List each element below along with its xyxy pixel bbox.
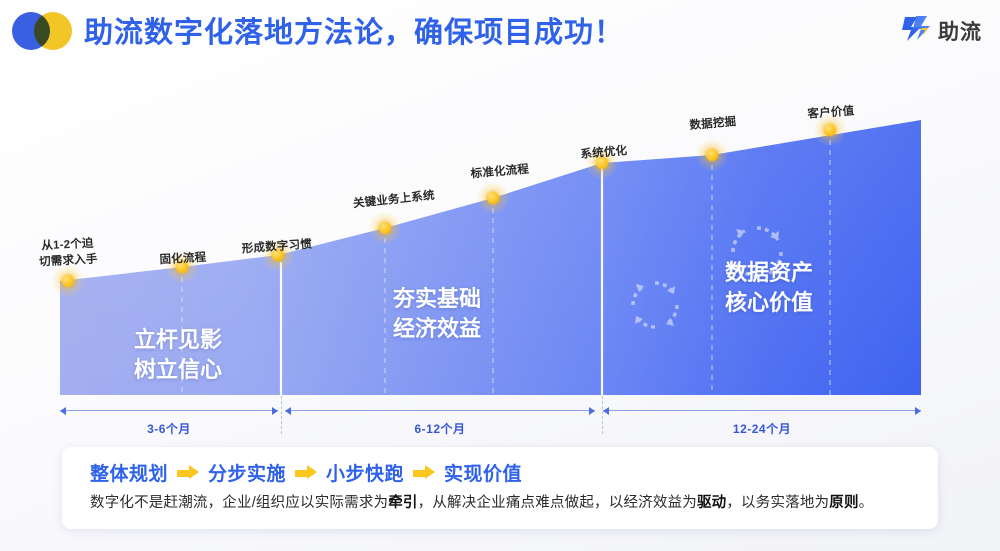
milestone-label-1: 从1-2个迫 切需求入手 [17, 235, 118, 271]
arrow-right-icon [272, 407, 278, 415]
desc-part-3: ，从解决企业痛点难点做起，以经济效益为 [418, 495, 697, 511]
company-logo: 助流 [900, 14, 982, 48]
marker-dot [487, 192, 499, 204]
milestone-marker-7[interactable] [695, 138, 729, 172]
arrow-right-icon [915, 407, 921, 415]
timeline-segment-1: 3-6个月 [60, 410, 278, 440]
timeline-segment-3: 12-24个月 [603, 410, 921, 440]
brand-circle-gold [34, 12, 72, 50]
logo-text: 助流 [938, 16, 982, 46]
page-header: 助流数字化落地方法论，确保项目成功！ 助流 [0, 0, 1000, 62]
milestone-marker-4[interactable] [368, 211, 402, 245]
timeline-label-1: 3-6个月 [60, 420, 278, 437]
brand-circles-logo [12, 12, 74, 50]
timeline-line [285, 410, 595, 411]
arrow-right-icon-2 [295, 465, 317, 480]
marker-dot [706, 149, 718, 161]
arrow-right-icon-3 [413, 465, 435, 480]
marker-dot [824, 124, 836, 136]
lightning-bolt-icon [900, 14, 932, 49]
arrow-right-icon [589, 407, 595, 415]
stage-label-2: 夯实基础 经济效益 [357, 284, 517, 343]
desc-part-7: 。 [859, 495, 874, 511]
timeline-label-2: 6-12个月 [285, 420, 595, 437]
desc-part-4: 驱动 [697, 495, 726, 511]
desc-part-5: ，以务实落地为 [726, 495, 829, 511]
desc-part-6: 原则 [829, 495, 858, 511]
stage-label-1: 立杆见影 树立信心 [98, 325, 258, 384]
timeline-axis: 3-6个月 6-12个月 12-24个月 [0, 400, 1000, 445]
marker-dot [62, 275, 74, 287]
page-title: 助流数字化落地方法论，确保项目成功！ [84, 9, 624, 51]
timeline-label-3: 12-24个月 [603, 420, 921, 437]
timeline-line [60, 410, 278, 411]
step-label-1: 整体规划 [90, 459, 168, 486]
arrow-left-icon [60, 407, 66, 415]
step-sequence: 整体规划 分步实施 小步快跑 实现价值 [90, 459, 522, 486]
step-label-2: 分步实施 [208, 459, 286, 486]
timeline-segment-2: 6-12个月 [285, 410, 595, 440]
arrow-left-icon [603, 407, 609, 415]
stage-label-3: 数据资产 核心价值 [689, 258, 849, 317]
arrow-left-icon [285, 407, 291, 415]
timeline-line [603, 410, 921, 411]
summary-description: 数字化不是赶潮流，企业/组织应以实际需求为牵引，从解决企业痛点难点做起，以经济效… [90, 493, 918, 515]
arrow-right-icon-1 [177, 465, 199, 480]
milestone-marker-5[interactable] [476, 181, 510, 215]
summary-card: 整体规划 分步实施 小步快跑 实现价值 数字化不是赶潮流，企业/组织应以实际需求… [62, 447, 938, 529]
timeline-divider-1 [281, 396, 282, 434]
desc-part-2: 牵引 [388, 495, 417, 511]
marker-dot [379, 222, 391, 234]
methodology-chart: 从1-2个迫 切需求入手 固化流程 形成数字习惯 关键业务上系统 标准化流程 系… [0, 62, 1000, 407]
step-label-4: 实现价值 [444, 459, 522, 486]
desc-part-1: 数字化不是赶潮流，企业/组织应以实际需求为 [90, 495, 388, 511]
step-label-3: 小步快跑 [326, 459, 404, 486]
